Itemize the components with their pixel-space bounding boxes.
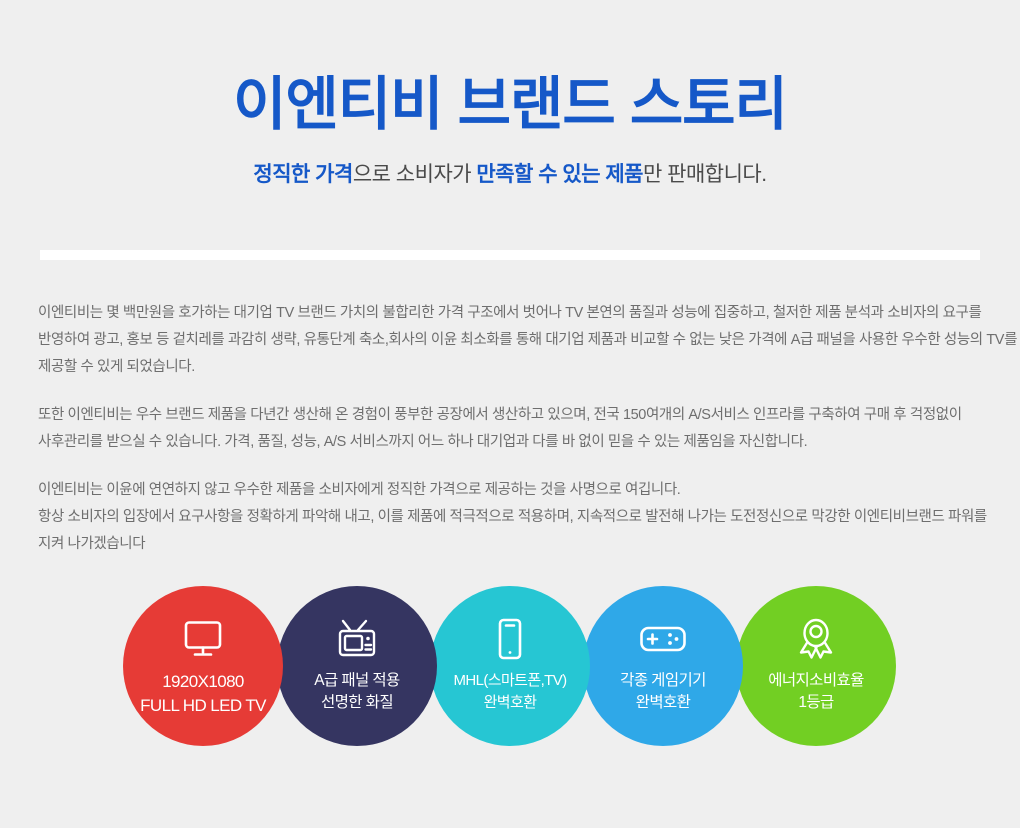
feature-label: 에너지소비효율 1등급 <box>768 670 864 714</box>
paragraph-line: 또한 이엔티비는 우수 브랜드 제품을 다년간 생산해 온 경험이 풍부한 공장… <box>38 402 988 429</box>
body-copy: 이엔티비는 몇 백만원을 호가하는 대기업 TV 브랜드 가치의 불합리한 가격… <box>38 300 988 558</box>
paragraph-3: 이엔티비는 이윤에 연연하지 않고 우수한 제품을 소비자에게 정직한 가격으로… <box>38 477 988 558</box>
hero-subtitle-part4: 만 판매합니다. <box>643 163 767 186</box>
feature-label-line1: MHL(스마트폰,TV) <box>454 672 567 689</box>
retro-tv-icon <box>336 618 378 660</box>
feature-label-line2: 선명한 화질 <box>314 692 399 714</box>
hero-subtitle-part3: 만족할 수 있는 제품 <box>476 163 643 186</box>
paragraph-line: 반영하여 광고, 홍보 등 겉치레를 과감히 생략, 유통단계 축소,회사의 이… <box>38 327 988 354</box>
feature-circle-energy: 에너지소비효율 1등급 <box>736 586 896 746</box>
page-title: 이엔티비 브랜드 스토리 <box>0 72 1020 138</box>
feature-label-line1: 1920X1080 <box>162 672 244 691</box>
section-divider <box>40 250 980 260</box>
feature-label: MHL(스마트폰,TV) 완벽호환 <box>454 670 567 714</box>
hero-section: 이엔티비 브랜드 스토리 정직한 가격으로 소비자가 만족할 수 있는 제품만 … <box>0 0 1020 190</box>
award-ribbon-icon <box>796 618 836 660</box>
paragraph-2: 또한 이엔티비는 우수 브랜드 제품을 다년간 생산해 온 경험이 풍부한 공장… <box>38 402 988 456</box>
feature-label: 각종 게임기기 완벽호환 <box>620 670 706 714</box>
feature-label-line2: 완벽호환 <box>620 692 706 714</box>
feature-circle-full-hd: 1920X1080 FULL HD LED TV <box>123 586 283 746</box>
feature-circle-panel: A급 패널 적용 선명한 화질 <box>277 586 437 746</box>
hero-subtitle: 정직한 가격으로 소비자가 만족할 수 있는 제품만 판매합니다. <box>0 160 1020 190</box>
feature-label: A급 패널 적용 선명한 화질 <box>314 670 399 714</box>
paragraph-line: 제공할 수 있게 되었습니다. <box>38 354 988 381</box>
feature-label-line2: 1등급 <box>768 692 864 714</box>
paragraph-line: 이엔티비는 몇 백만원을 호가하는 대기업 TV 브랜드 가치의 불합리한 가격… <box>38 300 988 327</box>
paragraph-line: 사후관리를 받으실 수 있습니다. 가격, 품질, 성능, A/S 서비스까지 … <box>38 429 988 456</box>
feature-circle-mhl: MHL(스마트폰,TV) 완벽호환 <box>430 586 590 746</box>
smartphone-icon <box>496 618 524 660</box>
paragraph-1: 이엔티비는 몇 백만원을 호가하는 대기업 TV 브랜드 가치의 불합리한 가격… <box>38 300 988 381</box>
feature-label-line1: 각종 게임기기 <box>620 672 706 689</box>
feature-label: 1920X1080 FULL HD LED TV <box>140 670 266 718</box>
feature-label-line1: 에너지소비효율 <box>768 672 864 689</box>
feature-circle-list: 1920X1080 FULL HD LED TV A급 패널 적용 선명한 <box>0 586 1020 756</box>
hero-subtitle-part1: 정직한 가격 <box>253 163 352 186</box>
paragraph-line: 항상 소비자의 입장에서 요구사항을 정확하게 파악해 내고, 이를 제품에 적… <box>38 504 988 531</box>
brand-story-page: 이엔티비 브랜드 스토리 정직한 가격으로 소비자가 만족할 수 있는 제품만 … <box>0 0 1020 828</box>
hero-subtitle-part2: 으로 소비자가 <box>353 163 477 186</box>
feature-label-line2: 완벽호환 <box>454 692 567 714</box>
monitor-icon <box>183 618 223 660</box>
gamepad-icon <box>639 618 687 660</box>
feature-circle-game: 각종 게임기기 완벽호환 <box>583 586 743 746</box>
feature-label-line1: A급 패널 적용 <box>314 672 399 689</box>
paragraph-line: 이엔티비는 이윤에 연연하지 않고 우수한 제품을 소비자에게 정직한 가격으로… <box>38 477 988 504</box>
paragraph-line: 지켜 나가겠습니다 <box>38 531 988 558</box>
feature-label-line2: FULL HD LED TV <box>140 694 266 718</box>
